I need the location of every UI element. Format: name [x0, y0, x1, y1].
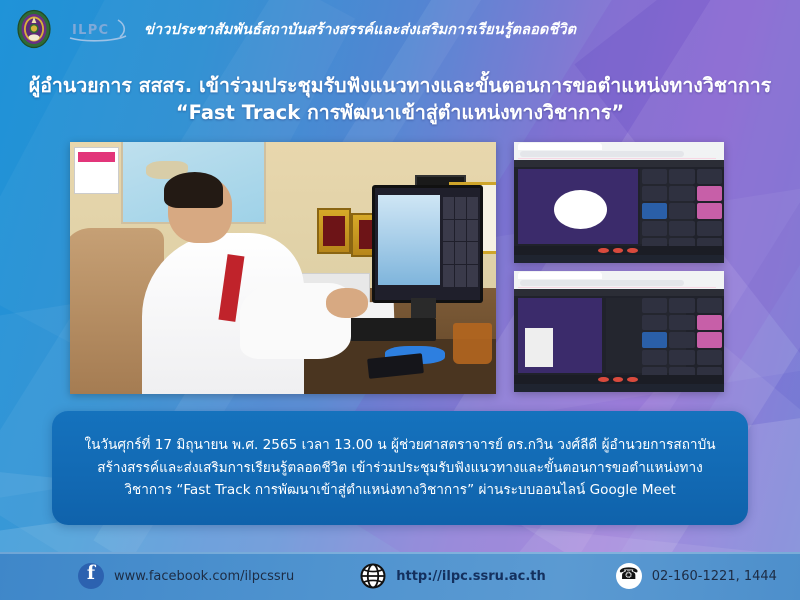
poster-header: ILPC ข่าวประชาสัมพันธ์สถาบันสร้างสรรค์แล…: [0, 0, 800, 58]
browser-url-bar: [520, 151, 684, 156]
footer-website[interactable]: http://ilpc.ssru.ac.th: [360, 563, 546, 589]
phone-icon: [616, 563, 642, 589]
header-banner-text: ข่าวประชาสัมพันธ์สถาบันสร้างสรรค์และส่งเ…: [144, 18, 576, 41]
svg-text:ILPC: ILPC: [72, 23, 109, 38]
director-at-desk-photo: [70, 142, 496, 394]
windows-taskbar: [514, 384, 724, 392]
presentation-stage: [518, 298, 602, 373]
browser-chrome: [514, 142, 724, 160]
welcome-slide-circle: [554, 190, 607, 229]
monitor-stand: [411, 298, 437, 318]
title-line-2: “Fast Track การพัฒนาเข้าสู่ตำแหน่งทางวิช…: [0, 99, 800, 126]
wall-calendar: [74, 147, 119, 194]
ssru-seal-icon: [14, 9, 54, 49]
meet-control-bar: [514, 375, 724, 383]
bookmarks-bar: [518, 287, 715, 289]
title-line-1: ผู้อำนวยการ สสสร. เข้าร่วมประชุมรับฟังแน…: [0, 72, 800, 99]
meet-title-bar: [514, 160, 724, 167]
description-text: ในวันศุกร์ที่ 17 มิถุนายน พ.ศ. 2565 เวลา…: [52, 434, 748, 502]
globe-icon: [360, 563, 386, 589]
description-panel: ในวันศุกร์ที่ 17 มิถุนายน พ.ศ. 2565 เวลา…: [52, 411, 748, 525]
participant-grid: [642, 298, 722, 383]
website-label: http://ilpc.ssru.ac.th: [396, 569, 546, 584]
browser-url-bar: [520, 280, 684, 285]
footer-phone[interactable]: 02-160-1221, 1444: [616, 563, 777, 589]
facebook-icon: [78, 563, 104, 589]
desktop-monitor: [372, 185, 483, 303]
bookmarks-bar: [518, 158, 715, 160]
footer-divider: [0, 552, 800, 554]
facebook-label: www.facebook.com/ilpcssru: [114, 569, 294, 584]
footer-facebook[interactable]: www.facebook.com/ilpcssru: [78, 563, 294, 589]
news-poster: ILPC ข่าวประชาสัมพันธ์สถาบันสร้างสรรค์แล…: [0, 0, 800, 600]
poster-title: ผู้อำนวยการ สสสร. เข้าร่วมประชุมรับฟังแน…: [0, 72, 800, 126]
presentation-stage: [518, 169, 638, 244]
browser-tab: [518, 272, 602, 278]
screen-participant-tiles: [443, 197, 479, 287]
fasttrack-slide: [525, 328, 554, 367]
tea-mug: [453, 323, 491, 363]
poster-footer: www.facebook.com/ilpcssru http://ilpc.ss…: [0, 552, 800, 600]
gold-frame: [317, 208, 351, 255]
person-hand: [326, 288, 369, 318]
monitor-screen: [375, 188, 480, 300]
phone-label: 02-160-1221, 1444: [652, 569, 777, 584]
ilpc-logo-icon: ILPC: [68, 16, 130, 42]
screen-slide: [378, 195, 441, 285]
windows-taskbar: [514, 255, 724, 263]
browser-tab: [518, 143, 602, 149]
meet-control-bar: [514, 246, 724, 254]
meeting-screenshot-welcome: [514, 142, 724, 263]
meet-title-bar: [514, 289, 724, 296]
person-hair: [164, 172, 224, 207]
meeting-screenshot-fasttrack: [514, 271, 724, 392]
participant-grid: [642, 169, 722, 254]
browser-chrome: [514, 271, 724, 289]
